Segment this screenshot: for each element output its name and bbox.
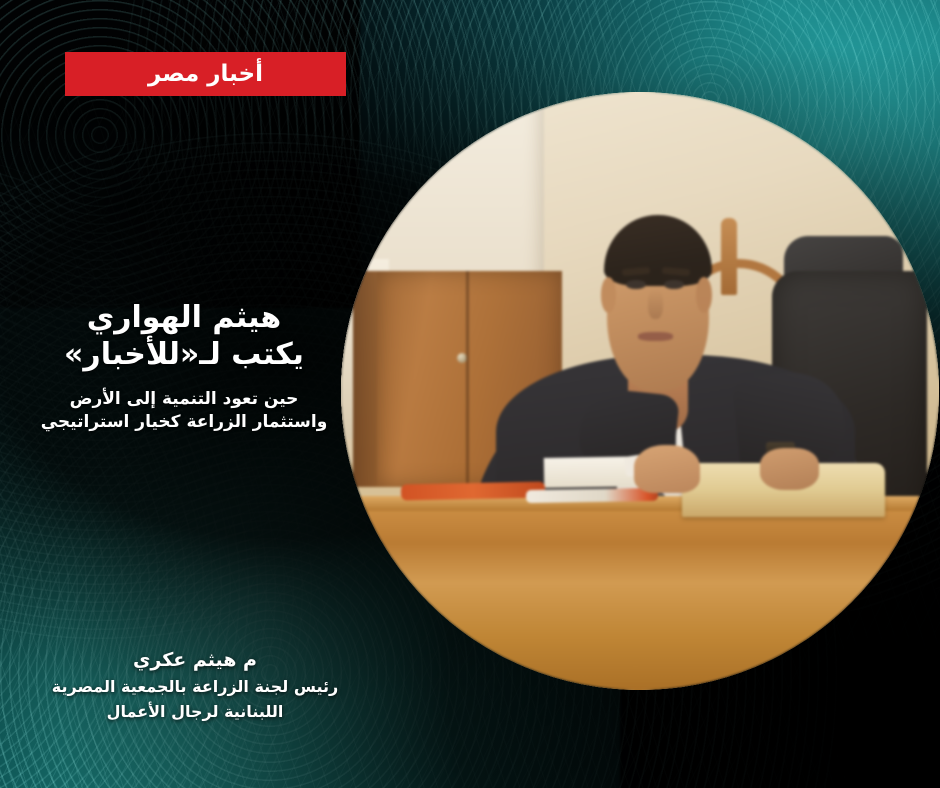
subheadline: حين تعود التنمية إلى الأرض واستثمار الزر…: [28, 388, 340, 434]
headline-line-1: هيثم الهواري: [28, 300, 340, 335]
headline-line-2: يكتب لـ«للأخبار»: [28, 337, 340, 372]
wooden-chair-crest-post: [721, 218, 737, 296]
news-poster: أخبار مصر: [0, 0, 940, 788]
ear-left: [601, 277, 617, 313]
nose: [648, 289, 664, 319]
caption-role-line-2: اللبنانية لرجال الأعمال: [20, 701, 370, 723]
caption-name: م هيثم عكري: [20, 648, 370, 673]
cabinet-knob: [457, 353, 467, 363]
category-banner-label: أخبار مصر: [148, 63, 263, 86]
mouth: [638, 332, 674, 340]
ear-right: [696, 277, 712, 313]
portrait-circle: [341, 92, 939, 690]
subheadline-line-2: واستثمار الزراعة كخيار استراتيجي: [28, 411, 340, 434]
portrait-photo: [341, 92, 939, 690]
wooden-desk: [341, 511, 939, 690]
caption-role-line-1: رئيس لجنة الزراعة بالجمعية المصرية: [20, 676, 370, 698]
hand-right: [760, 448, 820, 490]
white-pen: [526, 488, 658, 503]
category-banner: أخبار مصر: [65, 52, 346, 96]
subheadline-line-1: حين تعود التنمية إلى الأرض: [28, 388, 340, 411]
orange-pen: [401, 482, 545, 501]
hand-left: [634, 445, 700, 493]
headline: هيثم الهواري يكتب لـ«للأخبار»: [28, 300, 340, 373]
portrait-caption: م هيثم عكري رئيس لجنة الزراعة بالجمعية ا…: [20, 648, 370, 723]
